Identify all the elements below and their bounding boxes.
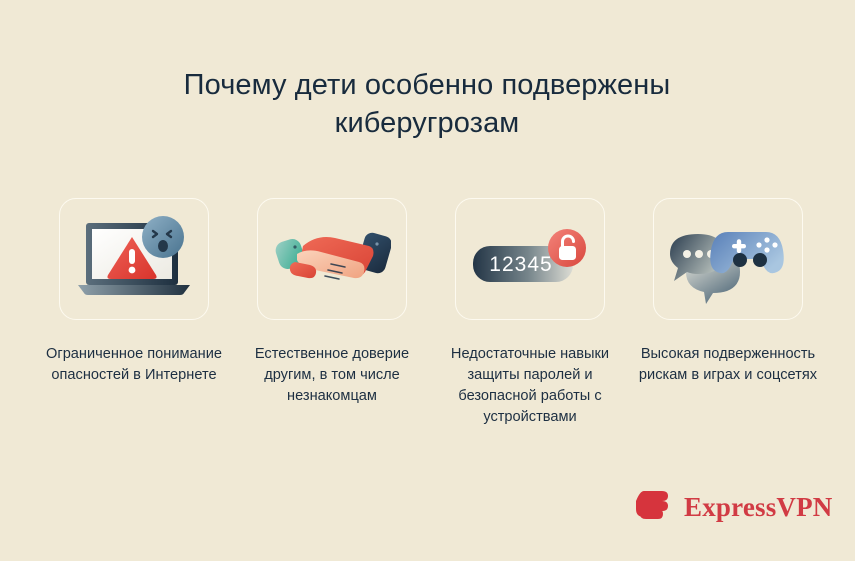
card-column-1: Ограниченное понимание опасностей в Инте… (58, 198, 210, 428)
expressvpn-mark-icon (632, 486, 672, 529)
icon-card-3: 12345 (455, 198, 605, 320)
icon-card-2 (257, 198, 407, 320)
page-title: Почему дети особенно подвержены киберугр… (127, 66, 727, 142)
infographic-page: Почему дети особенно подвержены киберугр… (0, 0, 855, 561)
laptop-warning-sad-face-icon (74, 213, 194, 305)
expressvpn-wordmark: ExpressVPN (684, 494, 833, 521)
cards-row: Ограниченное понимание опасностей в Инте… (58, 198, 804, 428)
password-field-unlocked-icon: 12345 (469, 220, 591, 298)
icon-card-4 (653, 198, 803, 320)
svg-text:12345: 12345 (489, 253, 552, 276)
card-caption-1: Ограниченное понимание опасностей в Инте… (44, 344, 224, 386)
handshake-icon (273, 216, 391, 302)
card-column-4: Высокая подверженность рискам в играх и … (652, 198, 804, 428)
card-column-3: 12345 Недостаточные навыки защиты пароле… (454, 198, 606, 428)
icon-card-1 (59, 198, 209, 320)
card-column-2: Естественное доверие другим, в том числе… (256, 198, 408, 428)
expressvpn-logo: ExpressVPN (632, 486, 833, 529)
chat-bubble-game-controller-icon (668, 214, 788, 304)
card-caption-2: Естественное доверие другим, в том числе… (242, 344, 422, 407)
card-caption-4: Высокая подверженность рискам в играх и … (638, 344, 818, 386)
card-caption-3: Недостаточные навыки защиты паролей и бе… (430, 344, 630, 428)
